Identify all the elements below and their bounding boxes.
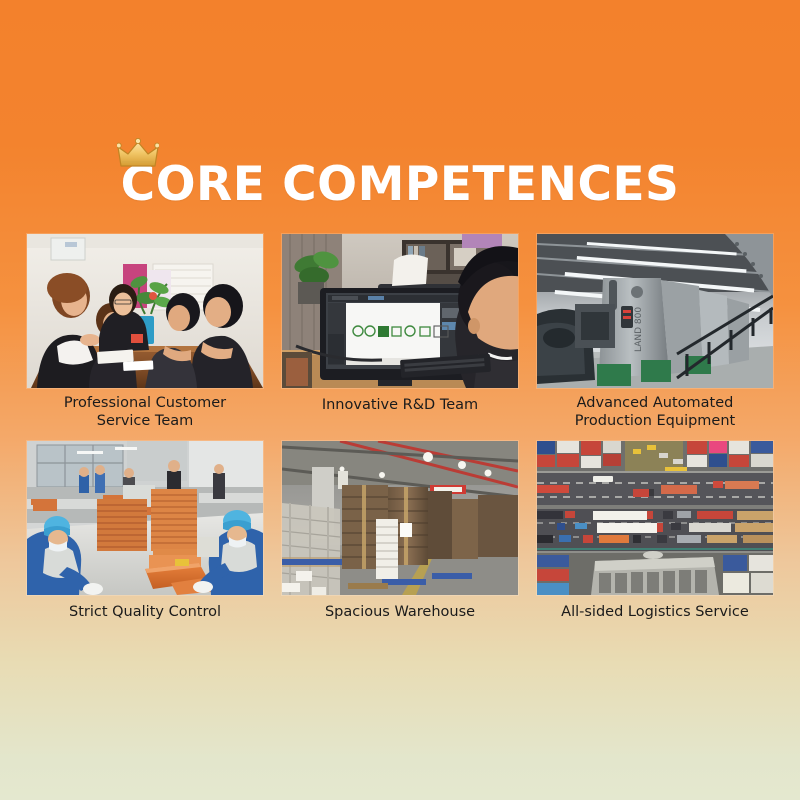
grid-row: Professional Customer Service Team [27, 234, 773, 432]
caption-line: Strict Quality Control [27, 603, 263, 621]
caption-line: Service Team [27, 412, 263, 430]
caption-line: Production Equipment [537, 412, 773, 430]
caption-line: Professional Customer [27, 394, 263, 412]
caption-professional-customer-service-team: Professional Customer Service Team [27, 394, 263, 430]
grid-cell-strict-quality-control[interactable]: Strict Quality Control [27, 441, 263, 639]
grid-cell-spacious-warehouse[interactable]: Spacious Warehouse [282, 441, 518, 639]
caption-line: All-sided Logistics Service [537, 603, 773, 621]
grid-cell-professional-customer-service-team[interactable]: Professional Customer Service Team [27, 234, 263, 432]
office-meeting-photo[interactable] [27, 234, 263, 388]
caption-line: Advanced Automated [537, 394, 773, 412]
core-competences-banner: CORE COMPETENCES [0, 0, 800, 800]
competence-grid: Professional Customer Service Team [27, 234, 773, 639]
grid-cell-innovative-rd-team[interactable]: Innovative R&D Team [282, 234, 518, 432]
grid-row: Strict Quality Control [27, 441, 773, 639]
caption-all-sided-logistics-service: All-sided Logistics Service [537, 601, 773, 639]
caption-strict-quality-control: Strict Quality Control [27, 601, 263, 639]
page-title: CORE COMPETENCES [121, 157, 680, 212]
svg-text:LAND 800: LAND 800 [634, 307, 644, 352]
page-title-block: CORE COMPETENCES [0, 150, 800, 218]
caption-line: Spacious Warehouse [282, 603, 518, 621]
designer-at-computer-photo[interactable] [282, 234, 518, 388]
printing-press-machinery-photo[interactable]: LAND 800 [537, 234, 773, 388]
caption-spacious-warehouse: Spacious Warehouse [282, 601, 518, 639]
aerial-container-port-photo[interactable] [537, 441, 773, 595]
caption-innovative-rd-team: Innovative R&D Team [282, 394, 518, 432]
caption-line: Innovative R&D Team [282, 396, 518, 414]
crown-icon [117, 138, 159, 168]
workers-inspecting-boxes-photo[interactable] [27, 441, 263, 595]
grid-cell-advanced-automated-production-equipment[interactable]: LAND 800 [537, 234, 773, 432]
warehouse-pallets-photo[interactable] [282, 441, 518, 595]
title-wrap: CORE COMPETENCES [121, 161, 680, 208]
grid-cell-all-sided-logistics-service[interactable]: All-sided Logistics Service [537, 441, 773, 639]
caption-advanced-automated-production-equipment: Advanced Automated Production Equipment [537, 394, 773, 430]
